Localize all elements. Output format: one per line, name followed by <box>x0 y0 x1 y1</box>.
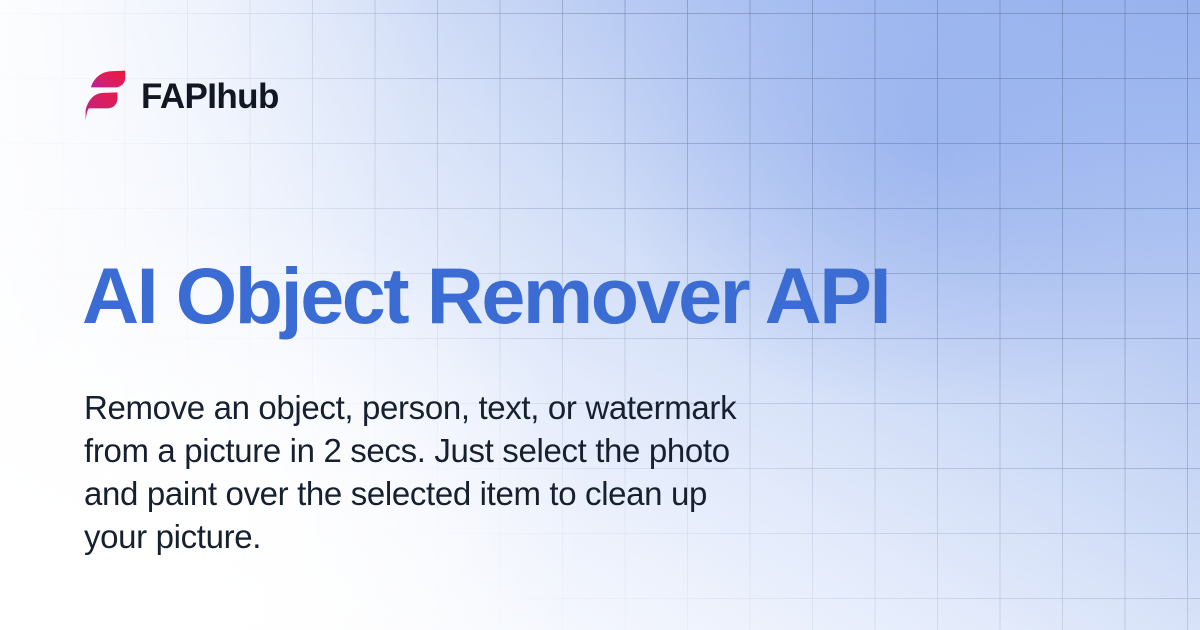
hero-banner: FAPIhub AI Object Remover API Remove an … <box>0 0 1200 630</box>
page-title: AI Object Remover API <box>82 255 889 337</box>
hero-description: Remove an object, person, text, or water… <box>84 386 904 558</box>
banner-content: FAPIhub AI Object Remover API Remove an … <box>0 0 1200 630</box>
brand-name: FAPIhub <box>141 79 279 114</box>
hero-description-line: and paint over the selected item to clea… <box>84 472 904 515</box>
hero-description-line: from a picture in 2 secs. Just select th… <box>84 429 904 472</box>
fapihub-flame-f-mark-icon <box>84 70 126 122</box>
hero-description-line: your picture. <box>84 515 904 558</box>
hero-description-line: Remove an object, person, text, or water… <box>84 386 904 429</box>
brand-lockup[interactable]: FAPIhub <box>84 70 279 122</box>
